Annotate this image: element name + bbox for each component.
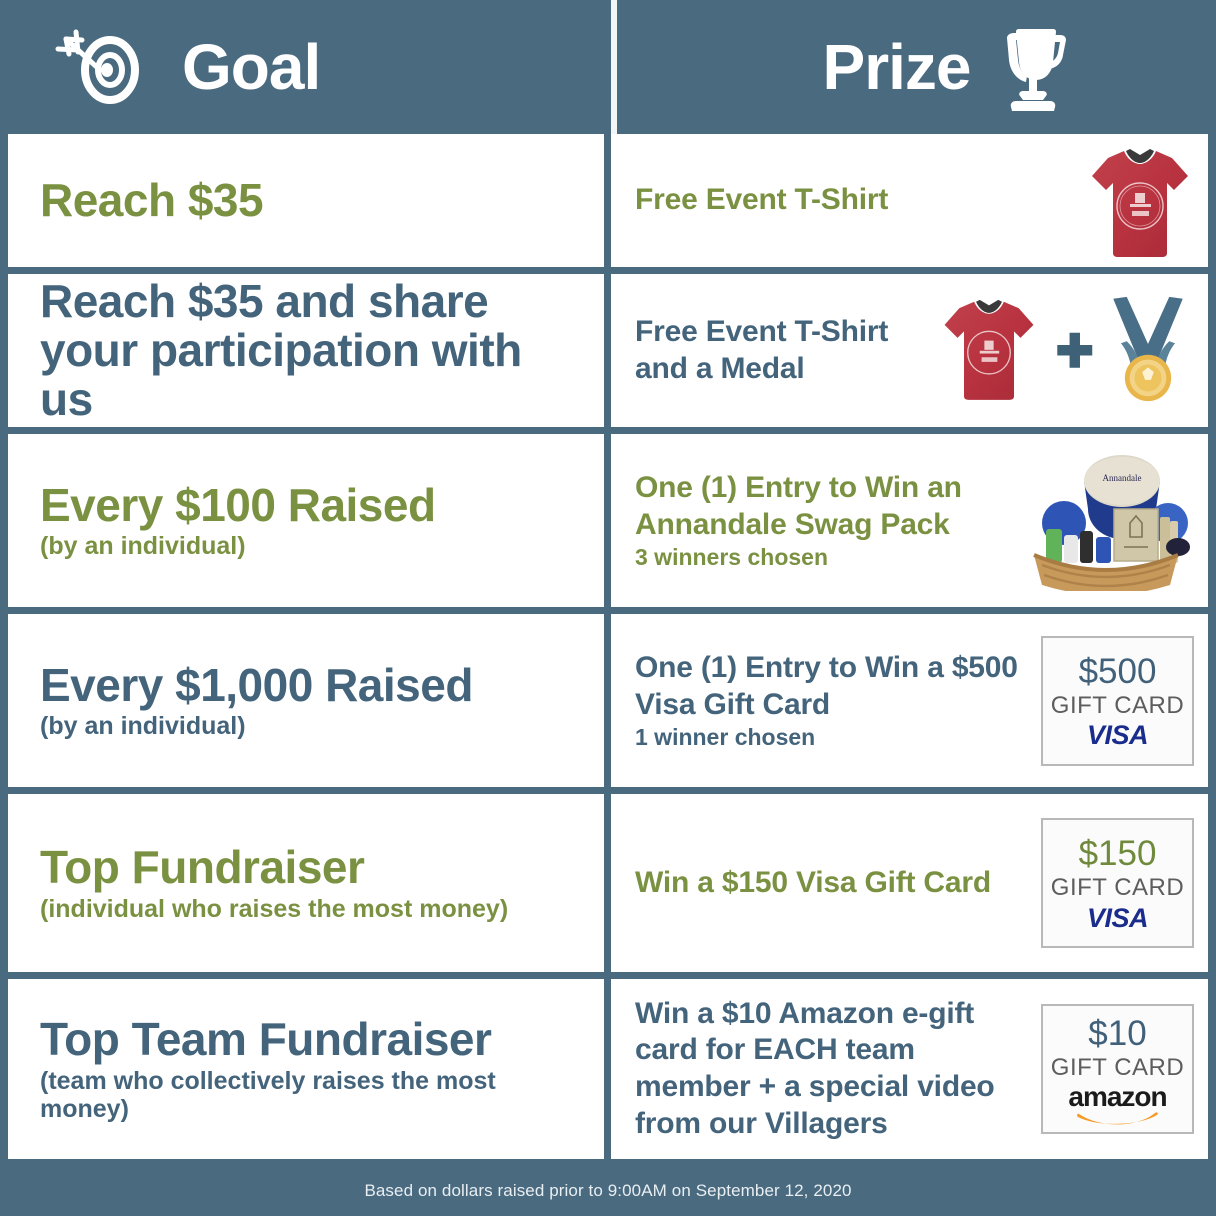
table-row: Every $100 Raised (by an individual) One… xyxy=(8,434,1208,614)
visa-gift-card: $500 GIFT CARD VISA xyxy=(1041,636,1194,766)
prize-main-text: Win a $150 Visa Gift Card xyxy=(635,865,1031,902)
prize-cell: One (1) Entry to Win an Annandale Swag P… xyxy=(611,434,1208,607)
prize-cell: Free Event T-Shirt xyxy=(611,134,1208,267)
goal-cell: Reach $35 and share your participation w… xyxy=(8,274,611,427)
gift-card-label: GIFT CARD xyxy=(1051,1055,1184,1080)
goal-cell: Every $1,000 Raised (by an individual) xyxy=(8,614,611,787)
goal-sub-text: (by an individual) xyxy=(40,712,578,740)
goal-cell: Every $100 Raised (by an individual) xyxy=(8,434,611,607)
prize-main-text: Free Event T-Shirt and a Medal xyxy=(635,314,929,387)
tshirt-image xyxy=(939,293,1047,409)
prize-main-text: Free Event T-Shirt xyxy=(635,182,1076,219)
amazon-smile-icon xyxy=(1075,1110,1161,1126)
header-goal-cell: Goal xyxy=(0,0,611,134)
prize-sub-text: 3 winners chosen xyxy=(635,544,1008,570)
footer-note: Based on dollars raised prior to 9:00AM … xyxy=(364,1181,851,1201)
gift-card-amount: $500 xyxy=(1079,654,1157,689)
goal-sub-text: (by an individual) xyxy=(40,532,578,560)
goal-prize-poster: Goal Prize Reach $35 xyxy=(0,0,1216,1216)
prize-main-text: Win a $10 Amazon e-gift card for EACH te… xyxy=(635,996,1031,1142)
goal-cell: Reach $35 xyxy=(8,134,611,267)
swag-basket-image: Annandale xyxy=(1018,451,1194,591)
table-row: Reach $35 and share your participation w… xyxy=(8,274,1208,434)
amazon-wordmark: amazon xyxy=(1068,1084,1166,1111)
prize-cell: Win a $150 Visa Gift Card $150 GIFT CARD… xyxy=(611,794,1208,972)
amazon-logo: amazon xyxy=(1068,1084,1166,1127)
prize-artwork: $150 GIFT CARD VISA xyxy=(1041,818,1194,948)
table-row: Top Team Fundraiser (team who collective… xyxy=(8,979,1208,1159)
goal-cell: Top Fundraiser (individual who raises th… xyxy=(8,794,611,972)
goal-main-text: Every $100 Raised xyxy=(40,481,578,530)
prize-main-text: One (1) Entry to Win a $500 Visa Gift Ca… xyxy=(635,650,1031,723)
medal-image xyxy=(1102,293,1194,409)
goal-sub-text: (team who collectively raises the most m… xyxy=(40,1067,578,1123)
tshirt-image xyxy=(1086,143,1194,259)
prize-cell: Free Event T-Shirt and a Medal xyxy=(611,274,1208,427)
goal-main-text: Reach $35 xyxy=(40,176,578,225)
gift-card-amount: $150 xyxy=(1079,836,1157,871)
table-body: Reach $35 Free Event T-Shirt xyxy=(8,134,1208,1165)
table-row: Reach $35 Free Event T-Shirt xyxy=(8,134,1208,274)
target-icon xyxy=(52,28,148,106)
gift-card-label: GIFT CARD xyxy=(1051,693,1184,718)
visa-logo: VISA xyxy=(1087,720,1148,751)
prize-artwork: Annandale xyxy=(1018,451,1194,591)
amazon-gift-card: $10 GIFT CARD amazon xyxy=(1041,1004,1194,1134)
goal-cell: Top Team Fundraiser (team who collective… xyxy=(8,979,611,1159)
gift-card-amount: $10 xyxy=(1088,1016,1146,1051)
goal-main-text: Reach $35 and share your participation w… xyxy=(40,277,578,423)
prize-artwork: ✚ xyxy=(939,293,1194,409)
table-row: Top Fundraiser (individual who raises th… xyxy=(8,794,1208,979)
svg-text:Annandale: Annandale xyxy=(1103,473,1142,483)
prize-artwork: $10 GIFT CARD amazon xyxy=(1041,1004,1194,1134)
goal-main-text: Every $1,000 Raised xyxy=(40,661,578,710)
trophy-icon xyxy=(996,21,1070,113)
footer: Based on dollars raised prior to 9:00AM … xyxy=(0,1165,1216,1216)
header-prize-cell: Prize xyxy=(611,0,1216,134)
goal-sub-text: (individual who raises the most money) xyxy=(40,895,578,923)
prize-artwork: $500 GIFT CARD VISA xyxy=(1041,636,1194,766)
goal-main-text: Top Team Fundraiser xyxy=(40,1015,578,1064)
visa-gift-card: $150 GIFT CARD VISA xyxy=(1041,818,1194,948)
visa-logo: VISA xyxy=(1087,903,1148,934)
goal-main-text: Top Fundraiser xyxy=(40,843,578,892)
goal-header-label: Goal xyxy=(182,35,320,99)
prize-main-text: One (1) Entry to Win an Annandale Swag P… xyxy=(635,470,1008,543)
prize-cell: Win a $10 Amazon e-gift card for EACH te… xyxy=(611,979,1208,1159)
prize-artwork xyxy=(1086,143,1194,259)
gift-card-label: GIFT CARD xyxy=(1051,875,1184,900)
plus-sign: ✚ xyxy=(1055,328,1094,374)
prize-sub-text: 1 winner chosen xyxy=(635,724,1031,750)
prize-cell: One (1) Entry to Win a $500 Visa Gift Ca… xyxy=(611,614,1208,787)
table-header: Goal Prize xyxy=(0,0,1216,134)
table-row: Every $1,000 Raised (by an individual) O… xyxy=(8,614,1208,794)
prize-header-label: Prize xyxy=(823,35,971,99)
